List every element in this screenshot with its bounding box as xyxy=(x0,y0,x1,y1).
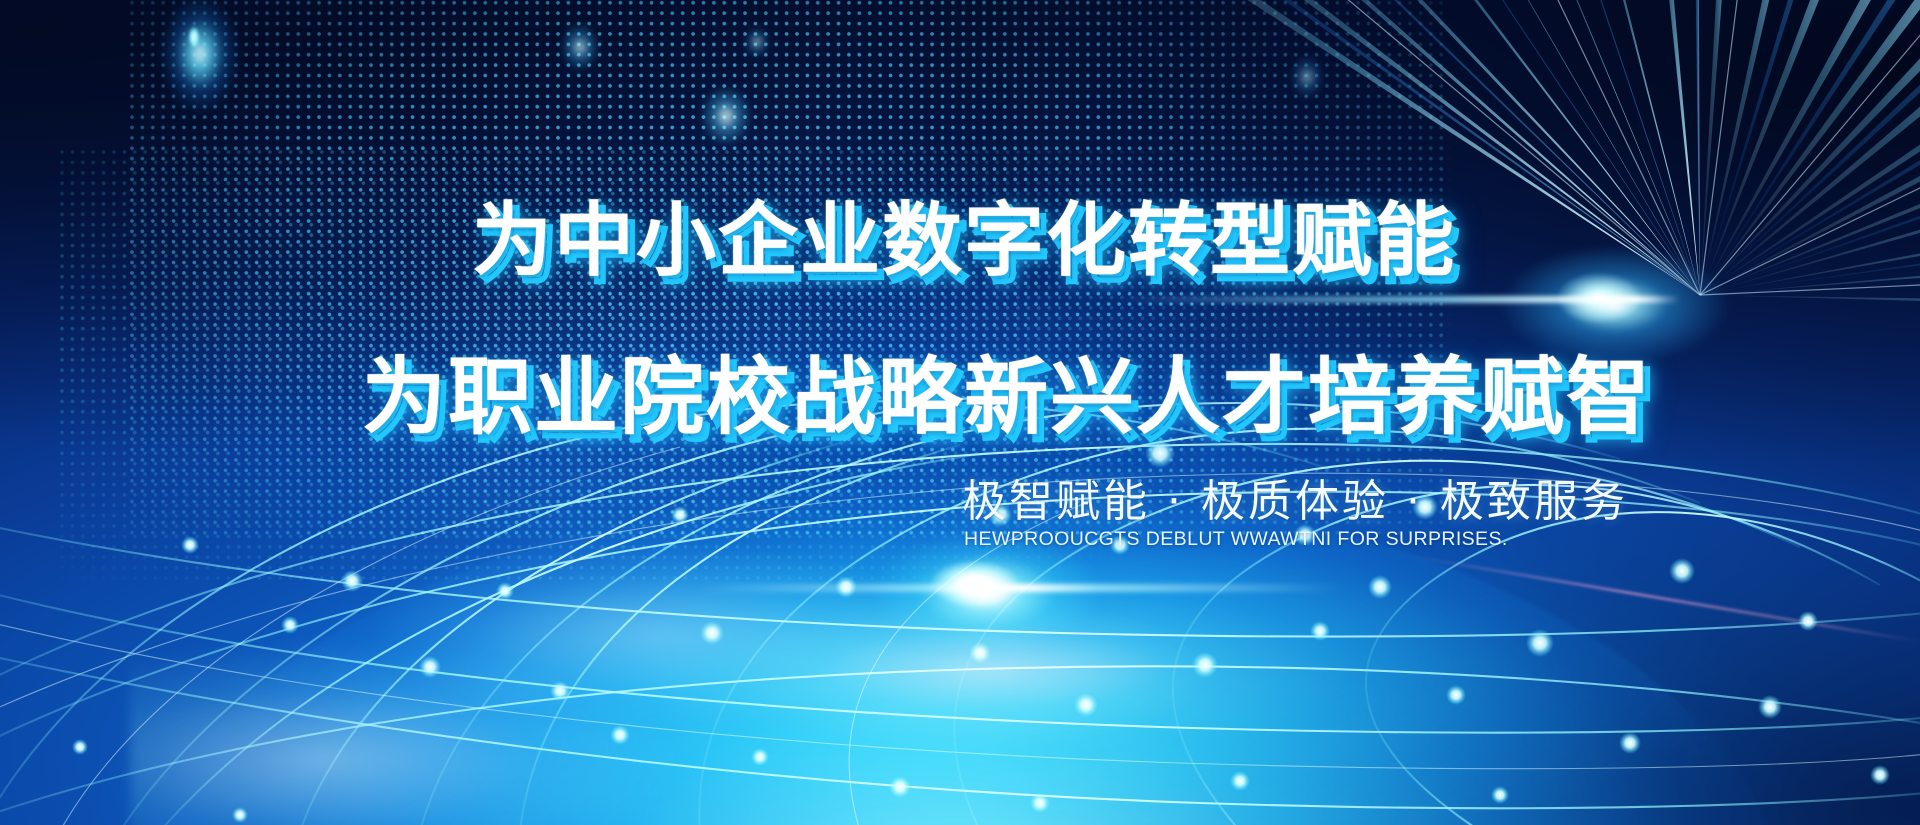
subtitle-slogan: 极智赋能 · 极质体验 · 极致服务 xyxy=(962,465,1628,529)
headline-line-1: 为中小企业数字化转型赋能 为中小企业数字化转型赋能 xyxy=(472,176,1456,292)
hero-banner: 为中小企业数字化转型赋能 为中小企业数字化转型赋能 为职业院校战略新兴人才培养赋… xyxy=(0,0,1920,825)
headline-line-2-text: 为职业院校战略新兴人才培养赋智 xyxy=(362,348,1652,446)
banner-content: 为中小企业数字化转型赋能 为中小企业数字化转型赋能 为职业院校战略新兴人才培养赋… xyxy=(0,0,1920,825)
headline-line-2: 为职业院校战略新兴人才培养赋智 为职业院校战略新兴人才培养赋智 xyxy=(362,330,1652,451)
tagline-english: HEWPROOUCGTS DEBLUT WWAWTNI FOR SURPRISE… xyxy=(964,528,1508,551)
headline-line-1-text: 为中小企业数字化转型赋能 xyxy=(472,194,1456,287)
